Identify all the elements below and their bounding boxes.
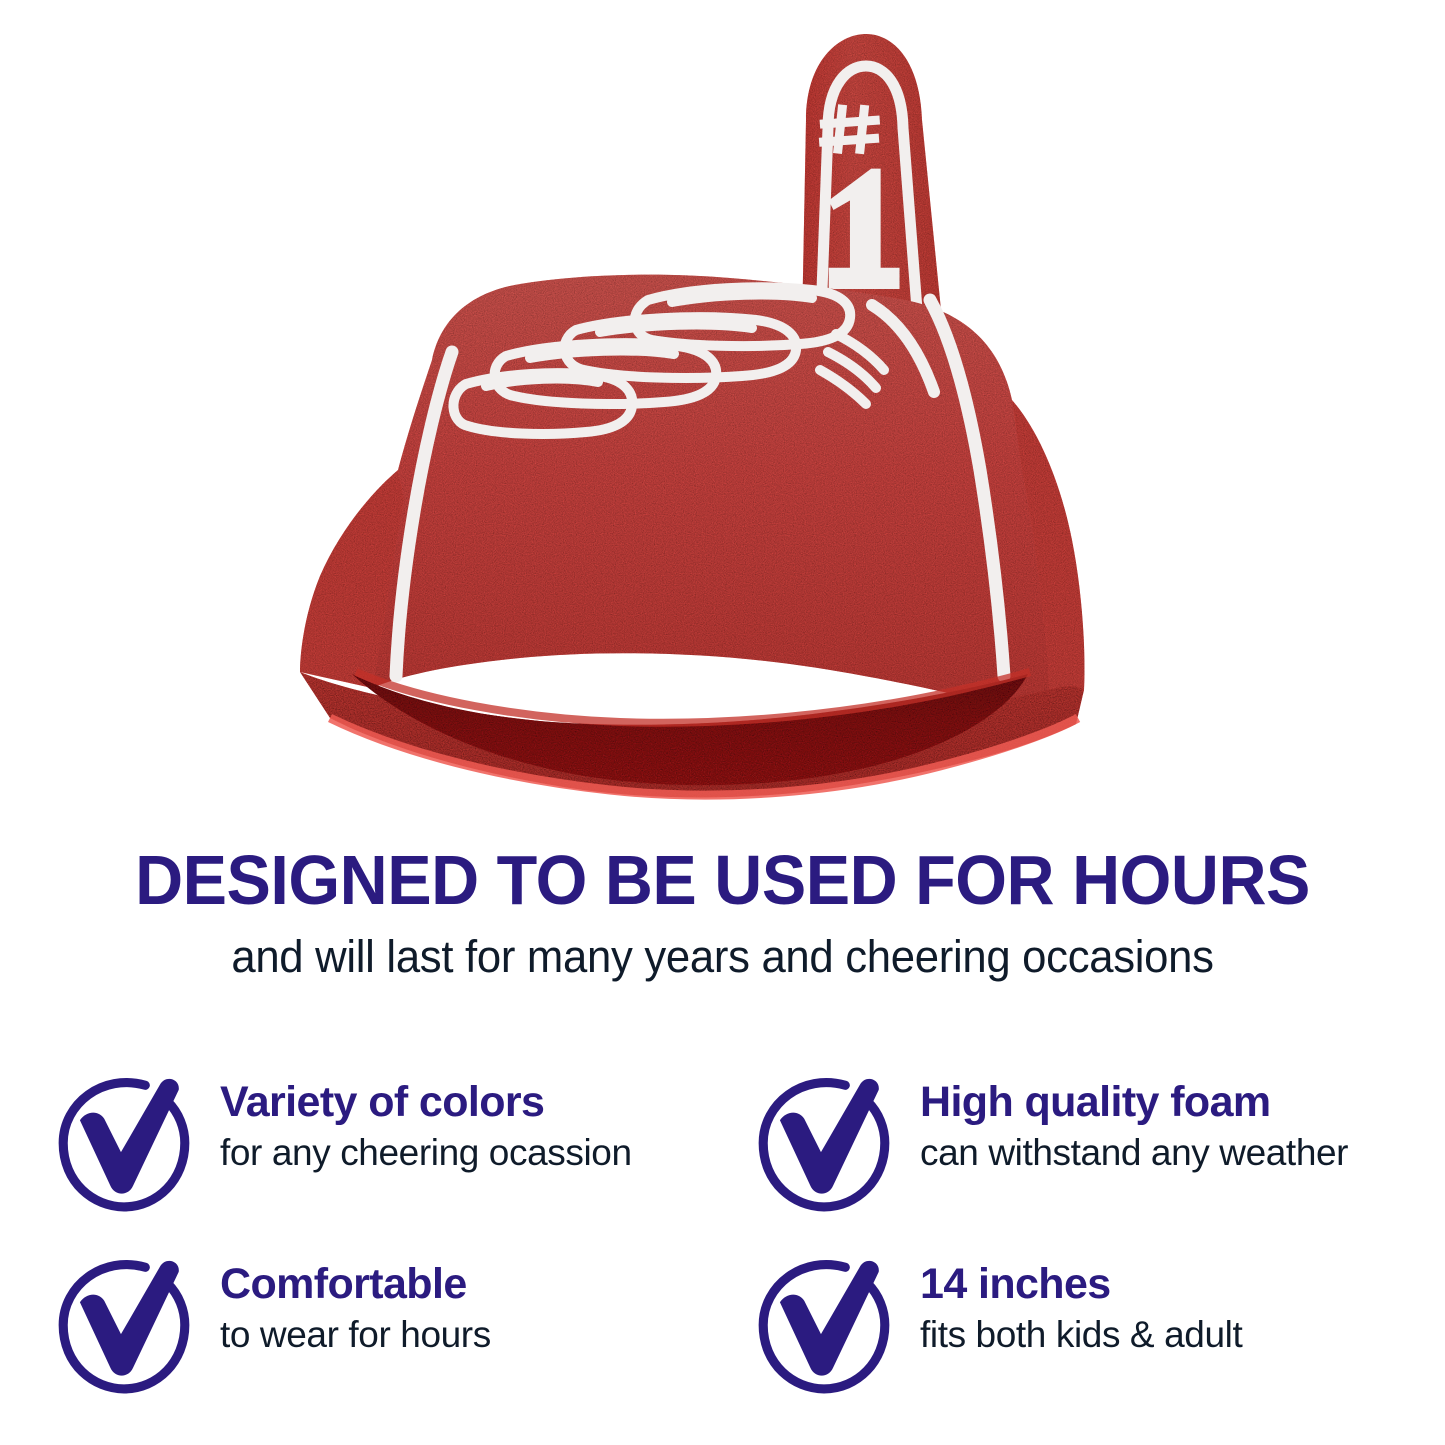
feature-item-comfortable: Comfortable to wear for hours (48, 1240, 748, 1398)
check-circle-icon (748, 1064, 900, 1216)
feature-subtitle: to wear for hours (220, 1313, 491, 1357)
feature-text: Comfortable to wear for hours (220, 1240, 491, 1356)
feature-subtitle: for any cheering ocassion (220, 1131, 632, 1175)
feature-title: Variety of colors (220, 1080, 632, 1125)
product-image-area (0, 0, 1445, 830)
headline-block: DESIGNED TO BE USED FOR HOURS and will l… (0, 845, 1445, 982)
check-circle-icon (48, 1246, 200, 1398)
feature-subtitle: fits both kids & adult (920, 1313, 1242, 1357)
feature-grid: Variety of colors for any cheering ocass… (48, 1058, 1408, 1398)
feature-item-variety-of-colors: Variety of colors for any cheering ocass… (48, 1058, 748, 1240)
page-subtitle: and will last for many years and cheerin… (22, 932, 1424, 982)
feature-text: 14 inches fits both kids & adult (920, 1240, 1242, 1356)
feature-item-14-inches: 14 inches fits both kids & adult (748, 1240, 1408, 1398)
check-circle-icon (748, 1246, 900, 1398)
feature-subtitle: can withstand any weather (920, 1131, 1348, 1175)
feature-title: High quality foam (920, 1080, 1348, 1125)
feature-title: 14 inches (920, 1262, 1242, 1307)
page-title: DESIGNED TO BE USED FOR HOURS (36, 845, 1409, 916)
infographic-page: DESIGNED TO BE USED FOR HOURS and will l… (0, 0, 1445, 1445)
foam-finger-illustration (0, 0, 1445, 830)
feature-title: Comfortable (220, 1262, 491, 1307)
feature-text: Variety of colors for any cheering ocass… (220, 1058, 632, 1174)
feature-text: High quality foam can withstand any weat… (920, 1058, 1348, 1174)
feature-item-high-quality-foam: High quality foam can withstand any weat… (748, 1058, 1408, 1240)
check-circle-icon (48, 1064, 200, 1216)
